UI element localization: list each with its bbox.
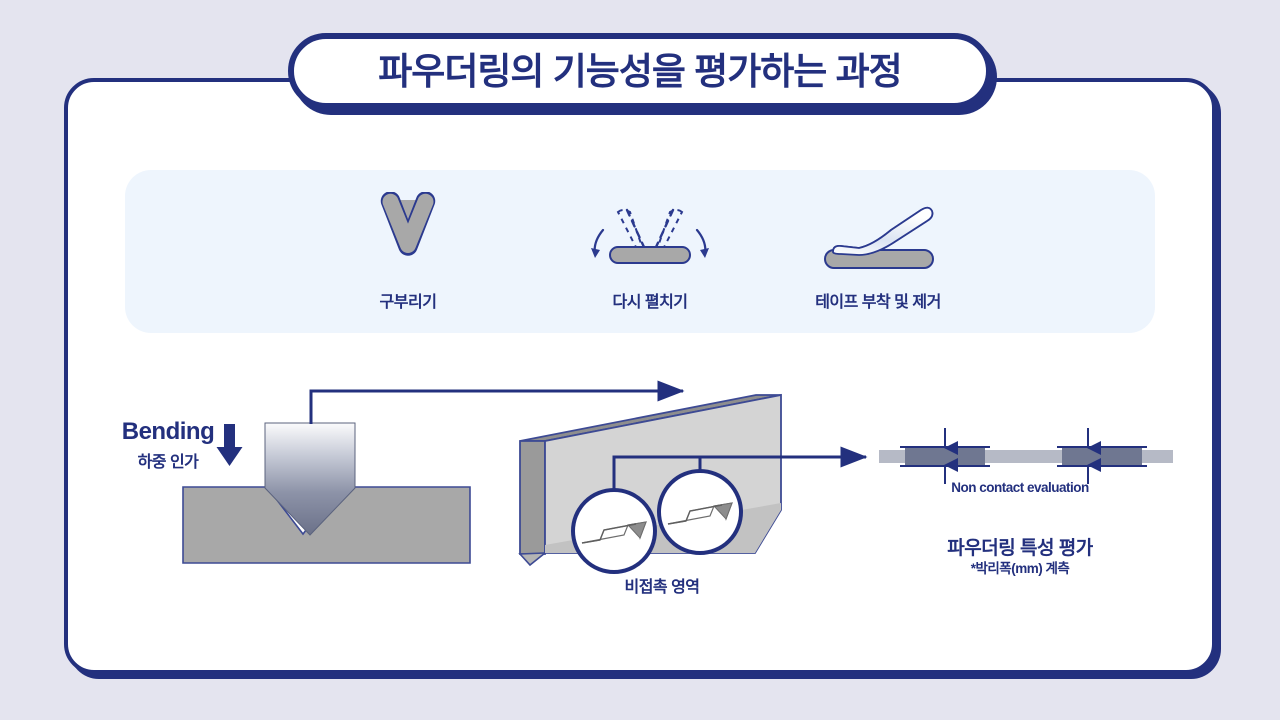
step-tape: 테이프 부착 및 제거 [763,192,993,312]
bending-label: Bending 하중 인가 [114,420,222,472]
slide-canvas: 파우더링의 기능성을 평가하는 과정 구부리기 [0,0,1280,720]
tape-peel-icon [763,192,993,274]
step-bending: 구부리기 [293,192,523,312]
step-label: 다시 펼치기 [535,288,765,312]
steps-panel: 구부리기 다시 펼치기 [125,170,1155,333]
bending-title-ko: 하중 인가 [114,448,222,472]
peel-width-note: *박리폭(mm) 계측 [900,557,1140,577]
noncontact-region-caption: 비접촉 영역 [562,573,762,597]
page-title: 파우더링의 기능성을 평가하는 과정 [378,53,901,90]
v-bend-icon [293,192,523,274]
bending-title-en: Bending [114,420,222,444]
title-banner: 파우더링의 기능성을 평가하는 과정 [288,33,992,109]
step-unfold: 다시 펼치기 [535,192,765,312]
step-label: 테이프 부착 및 제거 [763,288,993,312]
powdering-evaluation-label: 파우더링 특성 평가 [900,533,1140,560]
noncontact-evaluation-label: Non contact evaluation [905,480,1135,495]
unfold-arrows-icon [535,192,765,274]
step-label: 구부리기 [293,288,523,312]
